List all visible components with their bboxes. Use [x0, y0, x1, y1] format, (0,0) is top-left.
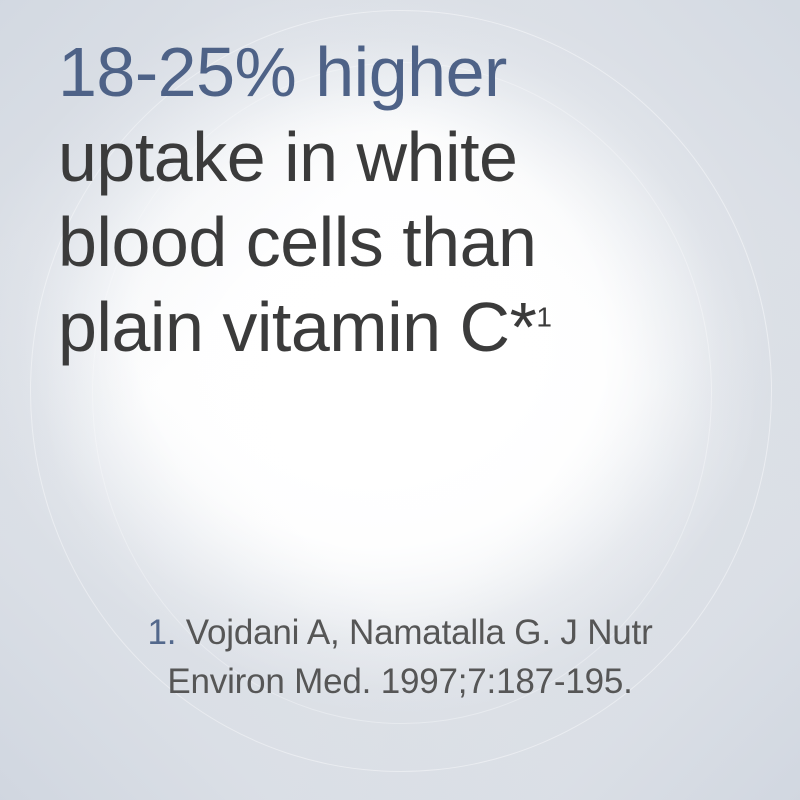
headline-line-4-text: plain vitamin C*	[58, 288, 536, 366]
headline-line-2: uptake in white	[58, 115, 758, 200]
slide-canvas: 18-25% higher uptake in white blood cell…	[0, 0, 800, 800]
headline: 18-25% higher uptake in white blood cell…	[58, 30, 758, 370]
citation-line-1-text: Vojdani A, Namatalla G. J Nutr	[186, 613, 653, 652]
citation-line-2: Environ Med. 1997;7:187-195.	[40, 657, 760, 706]
headline-line-3: blood cells than	[58, 200, 758, 285]
citation-line-1: 1. Vojdani A, Namatalla G. J Nutr	[40, 608, 760, 657]
headline-line-1: 18-25% higher	[58, 30, 758, 115]
citation-marker: 1.	[147, 613, 176, 652]
citation-block: 1. Vojdani A, Namatalla G. J Nutr Enviro…	[40, 608, 760, 706]
headline-line-4: plain vitamin C*1	[58, 285, 758, 370]
footnote-superscript-marker: 1	[536, 302, 552, 333]
